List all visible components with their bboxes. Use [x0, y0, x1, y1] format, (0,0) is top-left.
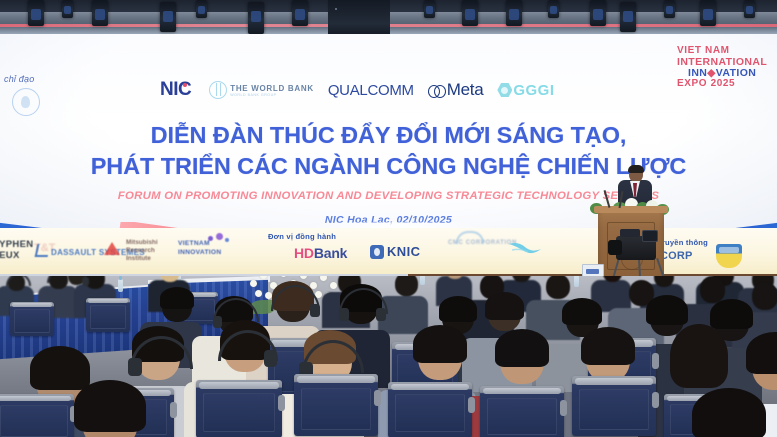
broadcast-camera — [612, 232, 666, 272]
sponsor-logo-meta: Meta — [428, 80, 484, 100]
chair[interactable] — [10, 302, 54, 336]
partners-label: Đơn vị đồng hành — [268, 232, 336, 241]
mitsubishi-triangle-icon — [104, 242, 120, 255]
banner-logo-cmc: CMC CORPORATION — [448, 240, 517, 246]
stage-light — [160, 2, 176, 32]
hexagon-icon — [497, 83, 512, 98]
globe-icon — [209, 81, 227, 99]
stage-light — [462, 0, 478, 26]
banner-logo-mitsubishi-research-institute: Mitsubishi Research Institute — [126, 239, 158, 263]
event-title: DIỄN ĐÀN THÚC ĐẨY ĐỔI MỚI SÁNG TẠO, PHÁT… — [0, 120, 777, 202]
knic-label: KNIC — [387, 244, 420, 259]
camera-monitor — [642, 230, 658, 242]
expo-logo-line4: EXPO 2025 — [677, 79, 773, 90]
water-bottle — [420, 276, 425, 285]
audience-area — [0, 276, 777, 437]
stage-light — [62, 0, 73, 18]
chair[interactable] — [294, 374, 378, 436]
chair[interactable] — [388, 382, 472, 437]
stage-light — [590, 0, 606, 26]
chair[interactable] — [86, 298, 130, 332]
hyphen-line2: DEUX — [0, 251, 33, 262]
wb-main: THE WORLD BANK — [230, 84, 314, 93]
stage-light — [664, 0, 675, 18]
stage-light — [506, 0, 522, 26]
mri-line2: Research — [126, 247, 158, 255]
title-line-1: DIỄN ĐÀN THÚC ĐẨY ĐỔI MỚI SÁNG TẠO, — [0, 120, 777, 151]
chair[interactable] — [196, 380, 282, 437]
banner-logo-vietnam-innovation: VIETNAM INNOVATION — [178, 240, 221, 257]
podium-top — [594, 206, 668, 213]
stage-light — [92, 0, 108, 26]
sponsor-logo-qualcomm: QUALCOMM — [328, 82, 414, 99]
chair[interactable] — [572, 376, 656, 436]
chair[interactable] — [480, 386, 564, 437]
sponsor-nic-label: NIC — [160, 79, 191, 101]
vni-line2: INNOVATION — [178, 249, 221, 258]
stage-light — [548, 0, 559, 18]
expo-logo-diamond-icon: ◆ — [707, 67, 715, 79]
camera-lens — [608, 240, 622, 255]
cmc-arc-icon — [456, 231, 484, 244]
directing-unit-label: chỉ đạo — [4, 74, 34, 84]
stage-light — [28, 0, 44, 26]
sponsor-logo-world-bank: THE WORLD BANK WORLD BANK GROUP — [209, 81, 314, 99]
directing-unit-logo: chỉ đạo — [2, 74, 94, 110]
ceiling-truss — [0, 0, 777, 34]
conference-photo: chỉ đạo VIET NAM INTERNATIONAL INN◆VATIO… — [0, 0, 777, 437]
title-line-2: PHÁT TRIỂN CÁC NGÀNH CÔNG NGHỆ CHIẾN LƯỢ… — [0, 151, 777, 182]
expo-logo: VIET NAM INTERNATIONAL INN◆VATION EXPO 2… — [677, 46, 773, 98]
sponsor-gggi-label: GGGI — [513, 82, 554, 99]
stage-light — [248, 2, 264, 34]
dassault-mark-icon — [35, 244, 51, 257]
sponsor-meta-label: Meta — [447, 80, 484, 100]
expo-logo-inn: INN — [688, 67, 707, 79]
water-bottle — [574, 276, 579, 287]
sponsor-logo-gggi: GGGI — [497, 82, 554, 99]
chair[interactable] — [0, 394, 74, 437]
directing-unit-emblem-icon — [12, 88, 40, 116]
hanging-speaker — [328, 0, 390, 34]
sponsor-world-bank-label: THE WORLD BANK WORLD BANK GROUP — [230, 84, 314, 97]
knic-seal-icon — [370, 245, 384, 259]
top-sponsor-row: NIC THE WORLD BANK WORLD BANK GROUP QUAL… — [160, 76, 580, 104]
stage-light — [620, 2, 636, 32]
sponsor-logo-nic: NIC — [160, 79, 195, 101]
stage-light — [196, 0, 207, 18]
banner-logo-knic: KNIC — [370, 244, 420, 259]
banner-logo-hdbank: HDBank — [294, 245, 347, 261]
expo-logo-vation: VATION — [716, 67, 757, 79]
mri-line3: Institute — [126, 255, 158, 263]
banner-logo-hyphen-deux: HYPHEN DEUX — [0, 240, 33, 262]
banner-logo-shield-icon — [716, 244, 742, 268]
stage-light — [424, 0, 435, 18]
water-bottle — [118, 279, 123, 292]
hdbank-hd: HD — [294, 245, 314, 261]
infinity-icon — [428, 85, 445, 96]
vni-line1: VIETNAM — [178, 240, 221, 249]
mri-line1: Mitsubishi — [126, 239, 158, 247]
camera-hood — [620, 229, 640, 237]
stage-light — [700, 0, 716, 26]
banner-logo-bird-icon — [508, 240, 542, 256]
hdbank-bank: Bank — [314, 245, 347, 261]
speaker-hair — [628, 165, 644, 173]
stage-light — [744, 0, 755, 18]
stage-light — [292, 0, 308, 26]
wb-sub: WORLD BANK GROUP — [230, 93, 314, 97]
